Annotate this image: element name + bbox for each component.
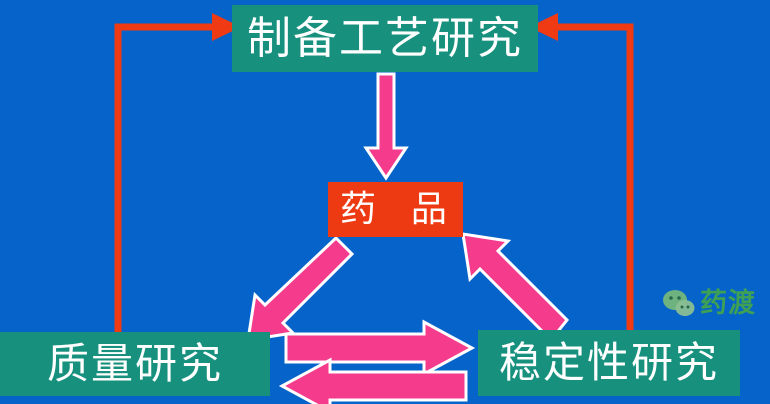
connector-drug-to-quality [248,238,352,340]
diagram-canvas: 制备工艺研究 药 品 质量研究 稳定性研究 药渡 [0,0,770,404]
connector-quality-to-process [118,13,241,333]
connector-stability-to-drug [463,234,567,340]
node-drug-product[interactable]: 药 品 [328,182,463,237]
node-stability-research[interactable]: 稳定性研究 [478,330,740,396]
node-quality-research[interactable]: 质量研究 [0,332,270,396]
connector-quality-to-stability [286,322,472,374]
connector-process-to-drug [366,74,406,178]
wechat-icon [662,288,696,318]
connector-stability-to-process [529,13,630,331]
node-process-research[interactable]: 制备工艺研究 [232,5,538,72]
watermark: 药渡 [662,288,756,318]
watermark-text: 药渡 [700,290,756,317]
